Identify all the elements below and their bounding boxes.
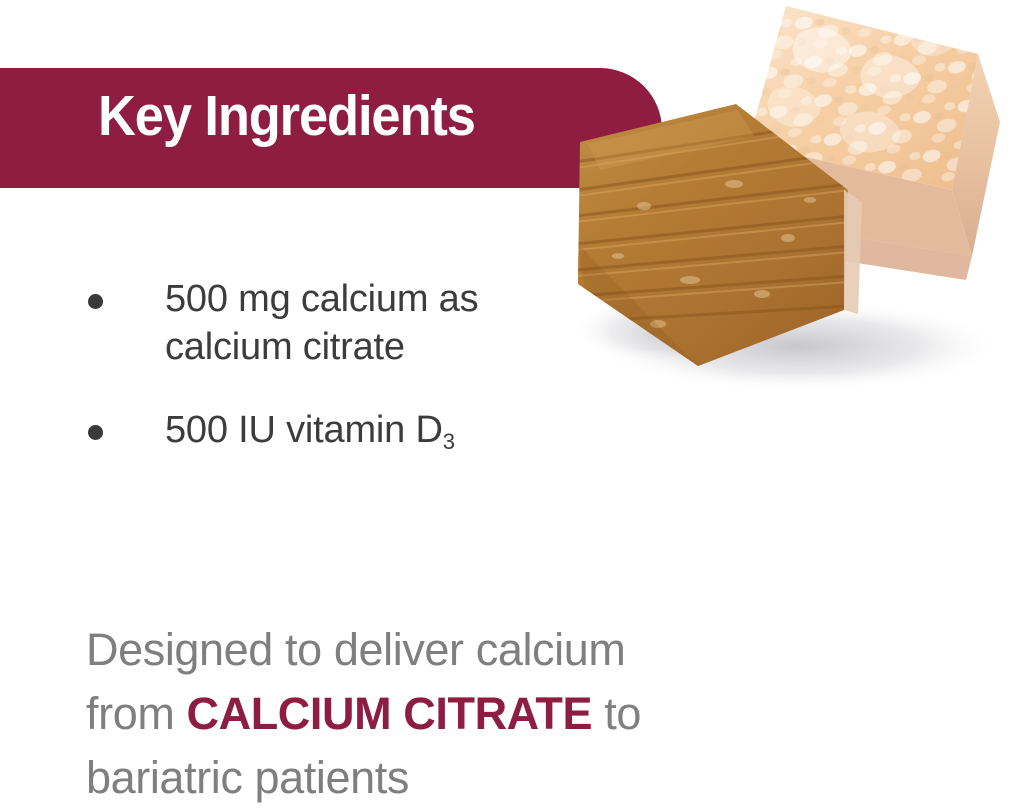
- tagline-line-2-after: to: [592, 688, 641, 739]
- slide-canvas: Key Ingredients: [0, 0, 1024, 811]
- tagline-line-3: bariatric patients: [86, 746, 846, 810]
- ingredient-vitamin-d3-text: 500 IU vitamin D: [165, 409, 443, 451]
- tagline-line-1: Designed to deliver calcium: [86, 618, 846, 682]
- tagline-line-2-before: from: [86, 688, 187, 739]
- ingredients-list: 500 mg calcium as calcium citrate 500 IU…: [82, 276, 552, 491]
- tagline: Designed to deliver calcium from CALCIUM…: [86, 618, 846, 810]
- page-title: Key Ingredients: [98, 88, 475, 145]
- ingredient-calcium: 500 mg calcium as calcium citrate: [165, 276, 552, 371]
- list-item: 500 mg calcium as calcium citrate: [82, 276, 552, 371]
- tagline-accent-calcium-citrate: CALCIUM CITRATE: [187, 688, 593, 739]
- ingredient-calcium-line1: 500 mg calcium as: [165, 278, 478, 320]
- list-item: 500 IU vitamin D3: [82, 407, 552, 455]
- ingredient-vitamin-d3-subscript: 3: [443, 429, 455, 454]
- tagline-line-2: from CALCIUM CITRATE to: [86, 682, 846, 746]
- ingredient-calcium-line2: calcium citrate: [165, 326, 405, 368]
- bullet-dot-icon: [82, 407, 165, 453]
- bullet-dot-icon: [82, 276, 165, 322]
- ingredient-vitamin-d3: 500 IU vitamin D3: [165, 407, 552, 455]
- product-image-calcium-soft-chew: [548, 0, 1024, 402]
